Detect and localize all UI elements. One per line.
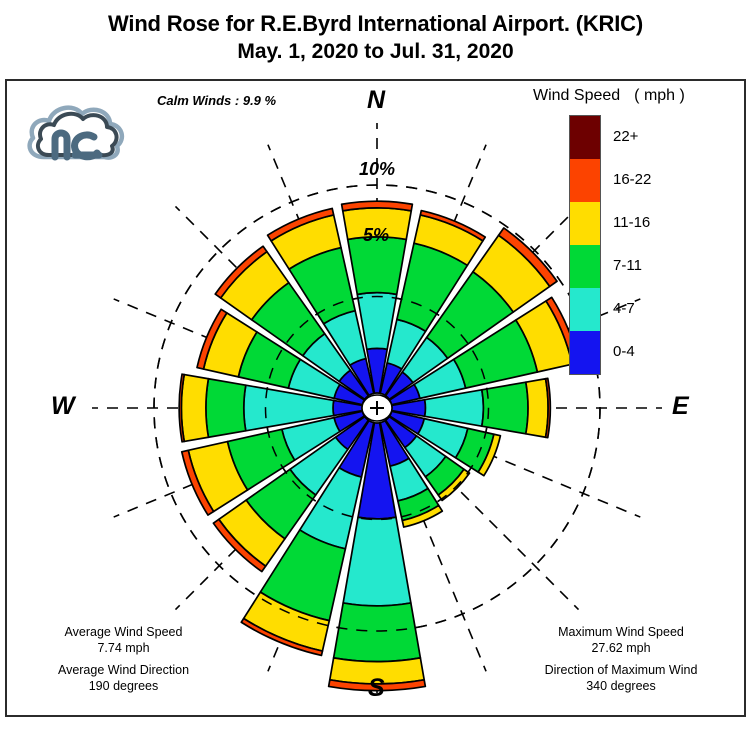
average-wind-direction-label: Average Wind Direction xyxy=(31,662,216,678)
legend-label-16-22: 16-22 xyxy=(613,158,651,201)
wind-rose-page: Wind Rose for R.E.Byrd International Air… xyxy=(0,0,751,752)
maximum-wind-direction-label: Direction of Maximum Wind xyxy=(516,662,726,678)
legend-title: Wind Speed( mph ) xyxy=(525,87,720,105)
rose-center-hub xyxy=(362,395,392,421)
legend-label-0-4: 0-4 xyxy=(613,330,651,373)
maximum-wind-speed-label: Maximum Wind Speed xyxy=(516,624,726,640)
wind-rose-petals xyxy=(179,201,579,690)
petal-segment-W-7-11 xyxy=(206,379,246,438)
maximum-wind-direction-value: 340 degrees xyxy=(516,678,726,694)
legend-swatch-7-11 xyxy=(570,245,600,288)
petal-segment-E-11-16 xyxy=(526,379,548,438)
legend-color-bar xyxy=(569,115,601,375)
petal-segment-N-4-7 xyxy=(357,293,396,350)
legend-swatch-22+ xyxy=(570,116,600,159)
legend: Wind Speed( mph ) 22+16-2211-167-114-70-… xyxy=(525,87,720,375)
legend-swatch-4-7 xyxy=(570,288,600,331)
legend-swatch-0-4 xyxy=(570,331,600,374)
average-wind-speed-stat: Average Wind Speed 7.74 mph xyxy=(31,624,216,656)
legend-units: ( mph ) xyxy=(634,87,685,104)
maximum-wind-speed-stat: Maximum Wind Speed 27.62 mph xyxy=(516,624,726,656)
maximum-wind-direction-stat: Direction of Maximum Wind 340 degrees xyxy=(516,662,726,694)
petal-segment-S-7-11 xyxy=(334,603,421,662)
legend-label-22+: 22+ xyxy=(613,115,651,158)
plot-frame: Calm Winds : 9.9 % N S E W 10% 5% Wind S… xyxy=(5,79,746,717)
compass-label-south: S xyxy=(368,674,385,703)
title-line-1: Wind Rose for R.E.Byrd International Air… xyxy=(0,10,751,38)
petal-segment-S-4-7 xyxy=(343,517,411,606)
ring-label-outer: 10% xyxy=(359,159,395,180)
legend-label-list: 22+16-2211-167-114-70-4 xyxy=(613,115,651,373)
legend-label-4-7: 4-7 xyxy=(613,287,651,330)
legend-swatch-11-16 xyxy=(570,202,600,245)
compass-label-west: W xyxy=(51,392,75,421)
ring-label-inner: 5% xyxy=(363,225,389,246)
legend-title-text: Wind Speed xyxy=(533,87,620,104)
average-wind-speed-value: 7.74 mph xyxy=(31,640,216,656)
compass-label-east: E xyxy=(672,392,689,421)
maximum-wind-speed-value: 27.62 mph xyxy=(516,640,726,656)
legend-swatch-16-22 xyxy=(570,159,600,202)
legend-label-7-11: 7-11 xyxy=(613,244,651,287)
title-line-2: May. 1, 2020 to Jul. 31, 2020 xyxy=(0,38,751,66)
page-title: Wind Rose for R.E.Byrd International Air… xyxy=(0,10,751,66)
legend-label-11-16: 11-16 xyxy=(613,201,651,244)
average-wind-speed-label: Average Wind Speed xyxy=(31,624,216,640)
petal-segment-W-11-16 xyxy=(181,375,208,442)
legend-body: 22+16-2211-167-114-70-4 xyxy=(525,115,720,375)
average-wind-direction-stat: Average Wind Direction 190 degrees xyxy=(31,662,216,694)
compass-label-north: N xyxy=(367,86,385,115)
average-wind-direction-value: 190 degrees xyxy=(31,678,216,694)
